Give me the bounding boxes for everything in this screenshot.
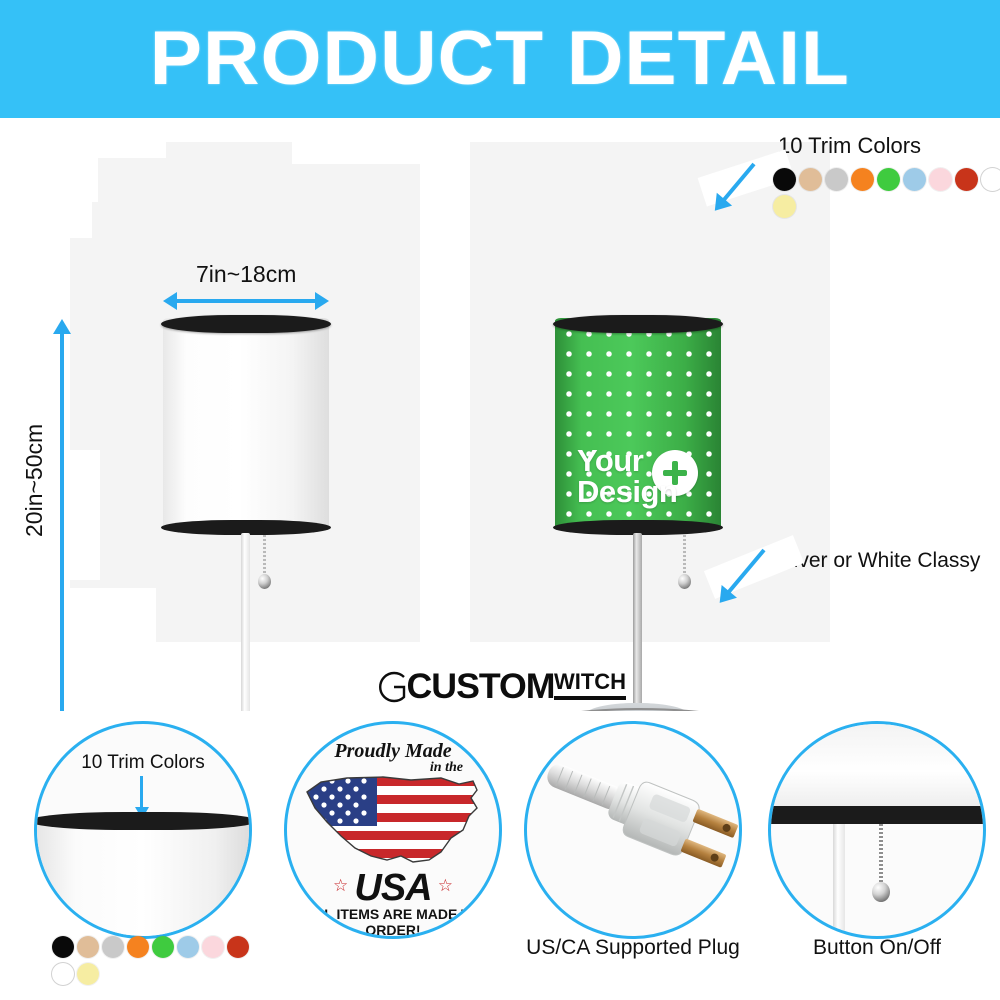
base-finish-callout-label: Silver or White Classy [775,549,980,573]
pull-chain-ball[interactable] [258,574,271,589]
brand-underline [554,696,626,700]
swatch-orange[interactable] [851,168,874,191]
swatch-red[interactable] [227,936,249,958]
swatch-gray[interactable] [825,168,848,191]
design-text-line2: Design [577,476,721,508]
usa-title: Proudly Made [287,740,499,763]
swatch-green[interactable] [877,168,900,191]
trim-colors-circle: 10 Trim Colors [34,721,252,939]
swatch-green[interactable] [152,936,174,958]
white-lamp-trim-top [161,315,331,333]
power-plug-icon [527,724,739,936]
highlight-patch [70,142,98,202]
shade-trim [34,812,252,830]
feature-pull-switch: Button On/Off [752,711,1000,1000]
usa-badge: Proudly Made in the [287,724,499,936]
swatch-white[interactable] [981,168,1000,191]
pull-chain[interactable] [263,535,266,579]
star-icon-right: ☆ [438,876,453,896]
trim-colors-inner-label: 10 Trim Colors [37,752,249,774]
feature-power-plug: US/CA Supported Plug [508,711,758,1000]
swatch-yellow[interactable] [773,195,796,218]
swatch-tan[interactable] [799,168,822,191]
trim-color-swatches[interactable] [773,168,1000,222]
usa-headline: USA [287,867,499,910]
swatch-white[interactable] [52,963,74,985]
shade-trim [768,806,986,824]
pull-chain-ball[interactable] [678,574,691,589]
swatch-gray[interactable] [102,936,124,958]
swatch-pink[interactable] [929,168,952,191]
swatch-tan[interactable] [77,936,99,958]
pull-chain[interactable] [879,824,883,886]
pull-switch-circle [768,721,986,939]
highlight-patch [70,588,156,642]
swatch-black[interactable] [52,936,74,958]
usa-map-flag-icon [291,764,497,884]
highlight-patch [70,202,92,238]
swatch-red[interactable] [955,168,978,191]
swatch-light-blue[interactable] [177,936,199,958]
width-dimension-label: 7in~18cm [196,261,296,288]
pull-chain-ball[interactable] [872,882,890,902]
trim-colors-callout-label: 10 Trim Colors [778,133,921,159]
highlight-patch [96,142,166,158]
pull-switch-caption: Button On/Off [752,936,1000,960]
green-lamp-trim-top [553,315,723,333]
white-lamp-shade [163,318,329,530]
shade-surface [163,318,329,530]
swatch-pink[interactable] [202,936,224,958]
green-lamp-shade: Your Design [555,318,721,530]
swatch-black[interactable] [773,168,796,191]
page-title: PRODUCT DETAIL [150,21,850,97]
shade-surface [34,819,252,939]
shade-surface [768,721,986,810]
swatch-orange[interactable] [127,936,149,958]
power-plug-circle [524,721,742,939]
brand-primary-text: CUSTOM [406,667,554,707]
feature-made-in-usa: Proudly Made in the [268,711,518,1000]
brand-secondary-wrap: WITCH [554,671,626,700]
power-plug-caption: US/CA Supported Plug [508,936,758,960]
brand-secondary-text: WITCH [554,671,626,693]
width-dimension-arrow [176,299,316,303]
highlight-patch [292,142,422,164]
pull-chain[interactable] [683,535,686,579]
header-banner: PRODUCT DETAIL [0,0,1000,118]
product-stage: 7in~18cm 20in~50cm Your Design 10 Trim C… [0,118,1000,663]
design-placeholder-text: Your Design [555,445,721,508]
usa-footer-text: ALL ITEMS ARE MADE TO ORDER! [287,906,499,938]
bottom-trim-color-swatches[interactable] [52,936,252,990]
shade-surface: Your Design [555,318,721,530]
height-dimension-label: 20in~50cm [21,424,48,537]
swatch-light-blue[interactable] [903,168,926,191]
highlight-patch [70,450,100,580]
design-text-line1: Your [577,445,721,477]
swatch-yellow[interactable] [77,963,99,985]
lamp-pole [833,824,845,939]
made-in-usa-circle: Proudly Made in the [284,721,502,939]
brand-logo: CUSTOM WITCH [0,663,1000,711]
trim-colors-inner-arrow [140,776,143,808]
